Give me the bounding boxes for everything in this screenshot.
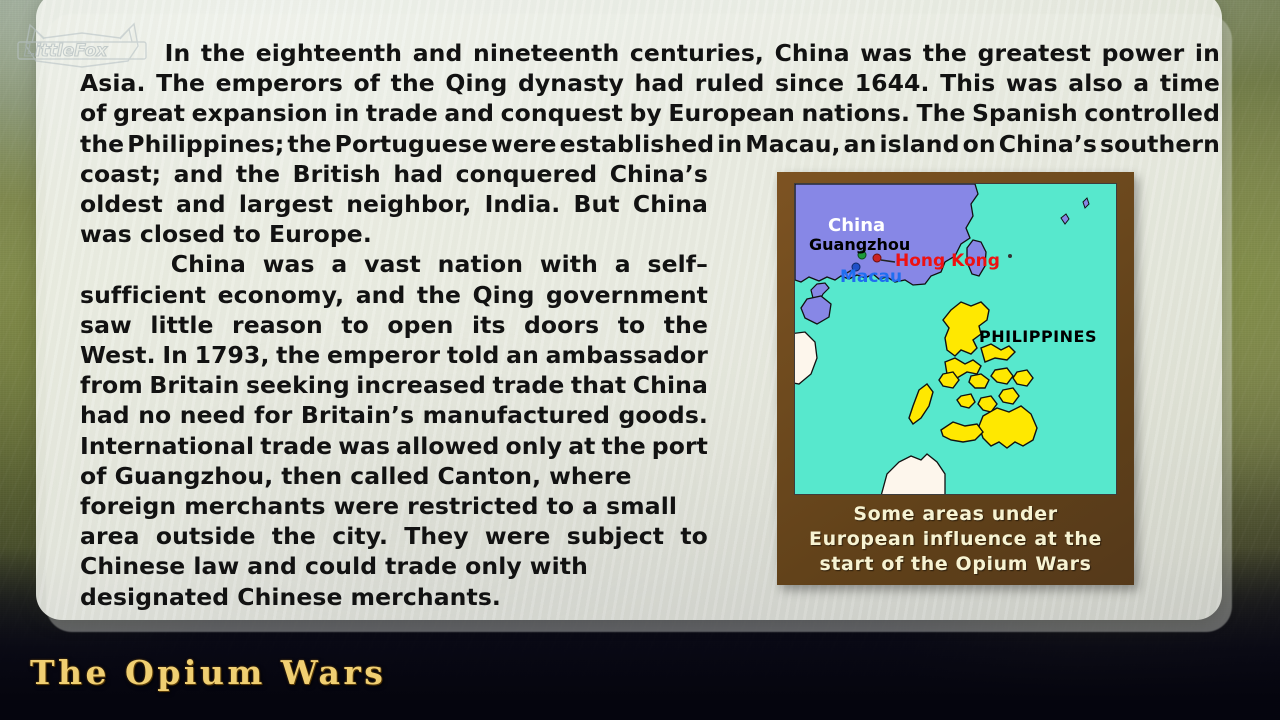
article-word: subject xyxy=(567,521,664,551)
article-word: 1793, xyxy=(195,340,270,370)
article-word: Britain’s xyxy=(301,400,414,430)
article-word: nation xyxy=(438,249,523,279)
map-label-hong-kong: Hong Kong xyxy=(895,251,1000,271)
article-word: and xyxy=(176,189,226,219)
article-word: with xyxy=(540,249,598,279)
article-word: Chinese xyxy=(237,583,342,611)
article-word: dynasty xyxy=(518,68,624,98)
article-word: China xyxy=(633,189,708,219)
article-word: then xyxy=(281,462,342,490)
article-word: open xyxy=(387,310,453,340)
article-line: designatedChinesemerchants. xyxy=(80,582,708,612)
map-speck-c xyxy=(1008,254,1012,258)
article-word: in xyxy=(1195,38,1220,68)
article-word: and xyxy=(356,280,406,310)
article-word: a xyxy=(615,249,631,279)
article-word: were xyxy=(334,492,400,520)
article-word: merchants. xyxy=(351,583,501,611)
article-word: conquered xyxy=(456,159,598,189)
article-word: where xyxy=(549,462,631,490)
map-dot-hong-kong xyxy=(873,254,881,262)
article-word: of xyxy=(80,98,107,128)
article-word: were xyxy=(491,129,557,159)
article-word: nations. xyxy=(802,98,910,128)
show-title: The Opium Wars xyxy=(30,653,386,692)
article-word: had xyxy=(634,68,684,98)
article-word: nineteenth xyxy=(473,38,619,68)
article-word: foreign xyxy=(80,492,176,520)
article-word: This xyxy=(940,68,995,98)
article-line: Chinawasavastnationwithaself– xyxy=(80,249,708,279)
article-word: China xyxy=(171,249,246,279)
article-line: sufficienteconomy,andtheQinggovernment xyxy=(80,280,708,310)
article-word: with xyxy=(530,552,588,580)
article-word: seeking xyxy=(246,370,350,400)
article-word: Qing xyxy=(473,280,535,310)
article-word: no xyxy=(138,400,171,430)
article-word: British xyxy=(293,159,381,189)
article-word: a xyxy=(582,492,598,520)
article-word: European xyxy=(668,98,795,128)
article-line: Asia.TheemperorsoftheQingdynastyhadruled… xyxy=(80,68,1220,98)
article-word: 1644. xyxy=(855,68,930,98)
article-word: island xyxy=(879,129,959,159)
map-label-macau: Macau xyxy=(840,267,902,287)
article-word: its xyxy=(472,310,506,340)
map-label-china: China xyxy=(828,215,885,236)
article-word: Qing xyxy=(445,68,507,98)
article-word: was xyxy=(263,249,315,279)
article-word: the xyxy=(602,431,646,461)
littlefox-logo: LittleFox xyxy=(8,16,154,68)
article-word: merchants xyxy=(184,492,325,520)
article-word: power xyxy=(1102,38,1185,68)
article-word: to xyxy=(618,310,646,340)
article-word: Asia. xyxy=(80,68,146,98)
article-word: closed xyxy=(140,220,225,248)
article-word: saw xyxy=(80,310,132,340)
article-word: since xyxy=(775,68,844,98)
map-image: China Guangzhou Hong Kong Macau PHILIPPI… xyxy=(794,183,1117,495)
article-word: of xyxy=(354,68,381,98)
article-word: ruled xyxy=(695,68,765,98)
article-word: and xyxy=(174,159,224,189)
article-word: southern xyxy=(1100,129,1220,159)
article-word: emperors xyxy=(216,68,343,98)
map-caption-line: Some areas under xyxy=(787,502,1124,527)
article-word: trade xyxy=(385,552,457,580)
map-caption: Some areas underEuropean influence at th… xyxy=(787,502,1124,577)
article-word: established xyxy=(560,129,715,159)
article-word: and xyxy=(413,38,463,68)
article-word: But xyxy=(574,189,620,219)
article-word: were xyxy=(485,521,551,551)
article-word: by xyxy=(629,98,661,128)
paragraph-indent xyxy=(80,249,154,279)
article-word: vast xyxy=(364,249,421,279)
article-word: increased xyxy=(356,370,486,400)
article-line: coast;andtheBritishhadconqueredChina’s xyxy=(80,159,708,189)
article-word: of xyxy=(80,462,107,490)
article-line: wasclosedtoEurope. xyxy=(80,219,708,249)
article-line: Chineselawandcouldtradeonlywith xyxy=(80,551,708,581)
article-word: was xyxy=(1006,68,1058,98)
map-caption-line: start of the Opium Wars xyxy=(787,552,1124,577)
article-word: coast; xyxy=(80,159,161,189)
article-line: fromBritainseekingincreasedtradethatChin… xyxy=(80,370,708,400)
article-word: to xyxy=(233,220,261,248)
article-word: was xyxy=(860,38,912,68)
article-word: greatest xyxy=(978,38,1091,68)
article-word: outside xyxy=(156,521,256,551)
article-word: little xyxy=(150,310,213,340)
fox-head-icon: LittleFox xyxy=(8,16,154,68)
article-line: hadnoneedforBritain’smanufacturedgoods. xyxy=(80,400,708,430)
article-word: was xyxy=(80,220,132,248)
article-word: economy, xyxy=(218,280,345,310)
article-word: the xyxy=(287,129,331,159)
article-word: and xyxy=(444,98,494,128)
article-word: area xyxy=(80,521,140,551)
article-word: International xyxy=(80,431,254,461)
article-word: had xyxy=(80,400,130,430)
article-word: Chinese xyxy=(80,552,185,580)
article-word: need xyxy=(180,400,246,430)
article-word: doors xyxy=(524,310,599,340)
article-word: India. xyxy=(485,189,561,219)
article-word: great xyxy=(113,98,185,128)
article-word: manufactured xyxy=(423,400,610,430)
article-word: The xyxy=(156,68,205,98)
article-word: Canton, xyxy=(438,462,542,490)
article-word: Europe. xyxy=(269,220,372,248)
article-word: Spanish xyxy=(972,98,1078,128)
article-line: oldestandlargestneighbor,India.ButChina xyxy=(80,189,708,219)
slide-stage: LittleFox Intheeighteenthandnineteenthce… xyxy=(0,0,1280,720)
article-word: goods. xyxy=(619,400,708,430)
article-word: in xyxy=(717,129,742,159)
article-word: the xyxy=(276,340,320,370)
article-line: foreignmerchantswererestrictedtoasmall xyxy=(80,491,708,521)
article-line: sawlittlereasontoopenitsdoorstothe xyxy=(80,310,708,340)
article-word: only xyxy=(506,431,563,461)
article-word: conquest xyxy=(501,98,623,128)
article-word: at xyxy=(568,431,595,461)
article-word: to xyxy=(341,310,369,340)
article-word: neighbor, xyxy=(346,189,471,219)
article-word: eighteenth xyxy=(256,38,402,68)
article-word: city. xyxy=(332,521,388,551)
article-word: small xyxy=(606,492,677,520)
article-word: also xyxy=(1068,68,1122,98)
article-word: the xyxy=(236,159,280,189)
article-word: Portuguese xyxy=(335,129,488,159)
article-word: They xyxy=(404,521,468,551)
article-word: time xyxy=(1160,68,1220,98)
article-word: emperor xyxy=(327,340,440,370)
article-word: China’s xyxy=(610,159,708,189)
article-word: and xyxy=(247,552,297,580)
article-word: trade xyxy=(366,98,438,128)
article-word: that xyxy=(571,370,626,400)
article-word: was xyxy=(338,431,390,461)
article-word: an xyxy=(844,129,877,159)
article-word: designated xyxy=(80,583,229,611)
logo-wordmark: LittleFox xyxy=(24,41,108,61)
article-word: called xyxy=(350,462,429,490)
article-word: Philippines; xyxy=(127,129,284,159)
article-word: oldest xyxy=(80,189,163,219)
article-word: on xyxy=(963,129,996,159)
article-word: the xyxy=(80,129,124,159)
article-word: a xyxy=(331,249,347,279)
article-line: thePhilippines;thePortuguesewereestablis… xyxy=(80,129,1220,159)
map-caption-line: European influence at the xyxy=(787,527,1124,552)
article-word: law xyxy=(193,552,239,580)
article-word: In xyxy=(165,38,191,68)
article-word: trade xyxy=(260,431,332,461)
article-word: West. xyxy=(80,340,156,370)
map-svg: China Guangzhou Hong Kong Macau PHILIPPI… xyxy=(795,184,1117,495)
article-word: Britain xyxy=(149,370,239,400)
article-word: for xyxy=(254,400,292,430)
article-line: ofgreatexpansionintradeandconquestbyEuro… xyxy=(80,98,1220,128)
article-word: port xyxy=(652,431,708,461)
article-word: trade xyxy=(492,370,564,400)
article-word: Guangzhou, xyxy=(115,462,274,490)
article-word: China xyxy=(775,38,850,68)
article-word: China xyxy=(633,370,708,400)
article-word: from xyxy=(80,370,143,400)
article-word: expansion xyxy=(192,98,328,128)
article-line: Internationaltradewasallowedonlyatthepor… xyxy=(80,431,708,461)
article-word: allowed xyxy=(396,431,499,461)
map-figure: China Guangzhou Hong Kong Macau PHILIPPI… xyxy=(777,172,1134,585)
article-line: West.In1793,theemperortoldanambassador xyxy=(80,340,708,370)
article-word: ambassador xyxy=(546,340,708,370)
article-word: centuries, xyxy=(630,38,764,68)
article-line: areaoutsidethecity.Theyweresubjectto xyxy=(80,521,708,551)
article-word: Macau, xyxy=(745,129,840,159)
article-word: In xyxy=(162,340,188,370)
article-word: could xyxy=(305,552,377,580)
article-word: only xyxy=(465,552,522,580)
article-word: the xyxy=(391,68,435,98)
article-line: Intheeighteenthandnineteenthcenturies,Ch… xyxy=(80,38,1220,68)
article-word: China’s xyxy=(999,129,1097,159)
article-word: the xyxy=(417,280,461,310)
article-word: in xyxy=(334,98,359,128)
article-word: a xyxy=(1133,68,1149,98)
map-label-philippines: PHILIPPINES xyxy=(979,327,1097,346)
article-word: an xyxy=(506,340,539,370)
article-word: reason xyxy=(232,310,323,340)
article-word: to xyxy=(680,521,708,551)
article-word: government xyxy=(546,280,708,310)
article-word: told xyxy=(447,340,500,370)
article-word: controlled xyxy=(1084,98,1220,128)
article-word: The xyxy=(917,98,966,128)
article-word: largest xyxy=(239,189,333,219)
article-word: the xyxy=(272,521,316,551)
article-word: had xyxy=(393,159,443,189)
article-word: sufficient xyxy=(80,280,206,310)
article-word: restricted xyxy=(407,492,538,520)
article-word: to xyxy=(547,492,575,520)
article-word: the xyxy=(201,38,245,68)
article-word: the xyxy=(664,310,708,340)
article-word: self– xyxy=(647,249,707,279)
article-word: the xyxy=(923,38,967,68)
article-line: ofGuangzhou,thencalledCanton,where xyxy=(80,461,708,491)
